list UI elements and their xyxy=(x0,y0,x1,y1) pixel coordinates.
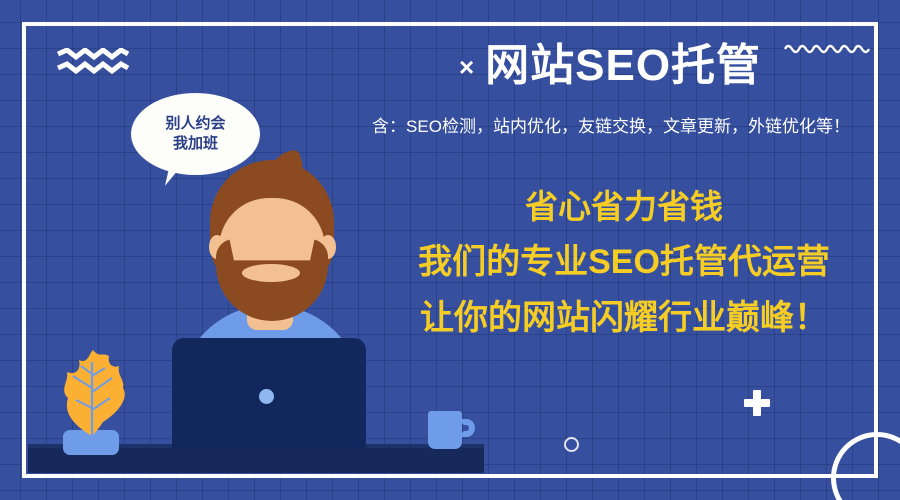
person-mouth xyxy=(242,264,300,282)
claim-line-2: 我们的专业SEO托管代运营 xyxy=(356,245,892,279)
plus-icon xyxy=(744,390,770,416)
claim-line-1: 省心省力省钱 xyxy=(356,190,892,223)
potted-plant-icon xyxy=(55,348,129,438)
speech-bubble: 别人约会 我加班 xyxy=(131,93,260,175)
page-title: ×网站SEO托管 xyxy=(330,44,890,88)
coffee-mug-handle xyxy=(458,419,475,437)
coffee-mug-icon xyxy=(428,411,462,449)
circle-outline-icon xyxy=(564,437,579,452)
page-subtitle: 含：SEO检测，站内优化，友链交换，文章更新，外链优化等！ xyxy=(330,116,892,138)
claims-list: 省心省力省钱 我们的专业SEO托管代运营 让你的网站闪耀行业巅峰！ xyxy=(356,190,892,335)
speech-bubble-line-1: 别人约会 xyxy=(165,114,225,134)
claim-line-3: 让你的网站闪耀行业巅峰！ xyxy=(356,301,892,335)
cross-mark-icon: × xyxy=(459,52,475,82)
speech-bubble-line-2: 我加班 xyxy=(173,134,218,154)
speech-bubble-text: 别人约会 我加班 xyxy=(131,93,260,175)
page-title-text: 网站SEO托管 xyxy=(485,41,761,90)
laptop-logo-dot xyxy=(259,389,274,404)
seo-promo-banner: 别人约会 我加班 ×网站SEO托管 含：SEO检测，站内优化，友链交换，文章更新… xyxy=(0,0,900,500)
